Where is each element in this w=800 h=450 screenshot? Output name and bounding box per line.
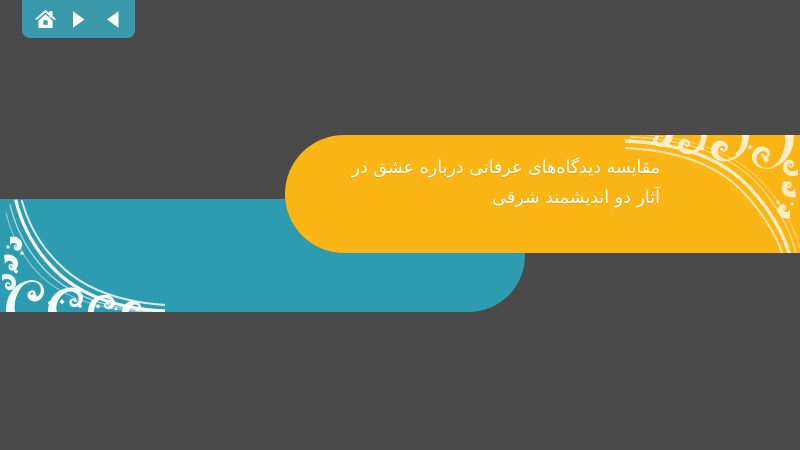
forward-button[interactable]: [67, 7, 91, 31]
slide-canvas: مقایسه دیدگاه‌های عرفانی درباره عشق در آ…: [0, 0, 800, 450]
arabesque-ornament-teal: [0, 199, 165, 312]
triangle-right-icon: [70, 10, 87, 29]
home-button[interactable]: [33, 7, 57, 31]
slide-title-line-2: آثار دو اندیشمند شرقی: [330, 183, 660, 213]
orange-title-banner: مقایسه دیدگاه‌های عرفانی درباره عشق در آ…: [285, 135, 800, 253]
navigation-bar: [22, 0, 135, 38]
back-button[interactable]: [100, 7, 124, 31]
slide-title-line-1: مقایسه دیدگاه‌های عرفانی درباره عشق در: [330, 153, 660, 183]
triangle-left-icon: [104, 10, 121, 29]
home-icon: [34, 8, 57, 30]
slide-title: مقایسه دیدگاه‌های عرفانی درباره عشق در آ…: [330, 153, 660, 213]
